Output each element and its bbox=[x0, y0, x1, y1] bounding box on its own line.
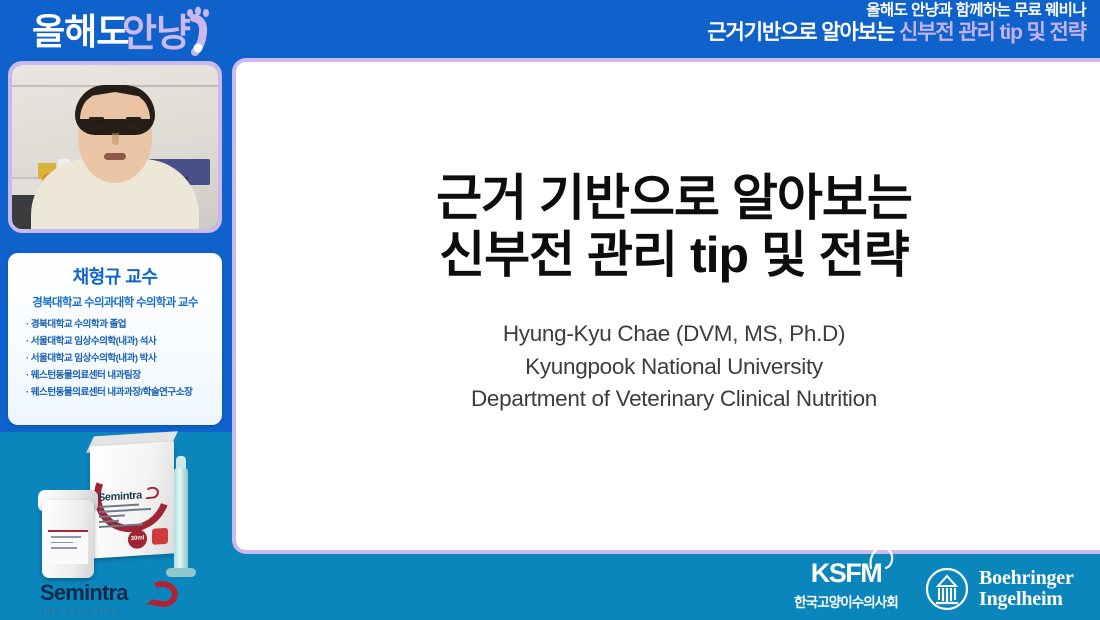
ksfm-name-kr: 한국고양이수의사회 bbox=[782, 591, 910, 611]
bi-wordmark: Boehringer Ingelheim bbox=[979, 568, 1074, 610]
cat-icon bbox=[867, 544, 897, 570]
boehringer-ingelheim-logo: Boehringer Ingelheim bbox=[925, 563, 1095, 615]
speaker-video-image bbox=[12, 65, 218, 229]
slide-subtitle-line1: Hyung-Kyu Chae (DVM, MS, Ph.D) bbox=[471, 318, 877, 351]
slide-title-line2: 신부전 관리 tip 및 전략 bbox=[436, 227, 912, 284]
slide-subtitle: Hyung-Kyu Chae (DVM, MS, Ph.D) Kyungpook… bbox=[471, 318, 877, 416]
product-bottle-label bbox=[48, 530, 88, 564]
product-logo: Semintra THE SOLUTION bbox=[40, 580, 200, 618]
product-box-text bbox=[99, 503, 151, 531]
svg-text:올해도: 올해도 bbox=[32, 11, 128, 52]
list-item: 서울대학교 임상수의학(내과) 박사 bbox=[26, 354, 214, 364]
product-logo-tagline: THE SOLUTION bbox=[40, 607, 200, 616]
product-box-icon bbox=[152, 528, 168, 545]
slide-title-line1: 근거 기반으로 알아보는 bbox=[436, 170, 912, 227]
ksfm-logo: KSFM 한국고양이수의사회 bbox=[782, 560, 910, 616]
bi-line1: Boehringer bbox=[979, 568, 1074, 589]
product-syringe-base bbox=[166, 568, 196, 577]
list-item: 웨스턴동물의료센터 내과팀장 bbox=[26, 371, 214, 381]
speaker-name: 채형규 교수 bbox=[16, 263, 214, 289]
webinar-screen: 올해도 안냥 올해도 안냥과 함께하는 무료 웨비나 근거기반으로 알아보는 신… bbox=[0, 0, 1100, 620]
slide-subtitle-line3: Department of Veterinary Clinical Nutrit… bbox=[471, 383, 877, 416]
product-box-badge: 30ml bbox=[128, 529, 147, 549]
speaker-video-tile[interactable] bbox=[8, 61, 222, 233]
header-title-accent: 신부전 관리 tip 및 전략 bbox=[899, 21, 1086, 44]
speaker-info-card: 채형규 교수 경북대학교 수의과대학 수의학과 교수 경북대학교 수의학과 졸업… bbox=[8, 253, 222, 425]
header-title-white: 근거기반으로 알아보는 bbox=[707, 21, 894, 44]
slide-title: 근거 기반으로 알아보는 신부전 관리 tip 및 전략 bbox=[436, 170, 912, 284]
speaker-affiliation: 경북대학교 수의과대학 수의학과 교수 bbox=[16, 294, 214, 310]
bi-emblem-icon bbox=[925, 567, 969, 611]
list-item: 경북대학교 수의학과 졸업 bbox=[26, 320, 214, 330]
event-logo: 올해도 안냥 bbox=[18, 2, 218, 56]
header-title: 근거기반으로 알아보는 신부전 관리 tip 및 전략 bbox=[707, 22, 1086, 43]
list-item: 웨스턴동물의료센터 내과과장/학술연구소장 bbox=[26, 388, 214, 398]
bi-line2: Ingelheim bbox=[979, 589, 1074, 610]
product-promo: Semintra 30ml Semintra THE SOLUTION bbox=[24, 438, 214, 620]
slide-subtitle-line2: Kyungpook National University bbox=[471, 351, 877, 384]
presentation-slide[interactable]: 근거 기반으로 알아보는 신부전 관리 tip 및 전략 Hyung-Kyu C… bbox=[232, 58, 1100, 554]
header-tagline: 올해도 안냥과 함께하는 무료 웨비나 bbox=[707, 3, 1086, 19]
product-syringe bbox=[174, 468, 188, 574]
product-box: Semintra 30ml bbox=[90, 441, 174, 558]
speaker-credentials: 경북대학교 수의학과 졸업 서울대학교 임상수의학(내과) 석사 서울대학교 임… bbox=[16, 320, 214, 398]
list-item: 서울대학교 임상수의학(내과) 석사 bbox=[26, 337, 214, 347]
ksfm-mark: KSFM bbox=[811, 560, 882, 587]
header-titles: 올해도 안냥과 함께하는 무료 웨비나 근거기반으로 알아보는 신부전 관리 t… bbox=[707, 3, 1086, 43]
svg-text:안냥: 안냥 bbox=[122, 13, 191, 55]
